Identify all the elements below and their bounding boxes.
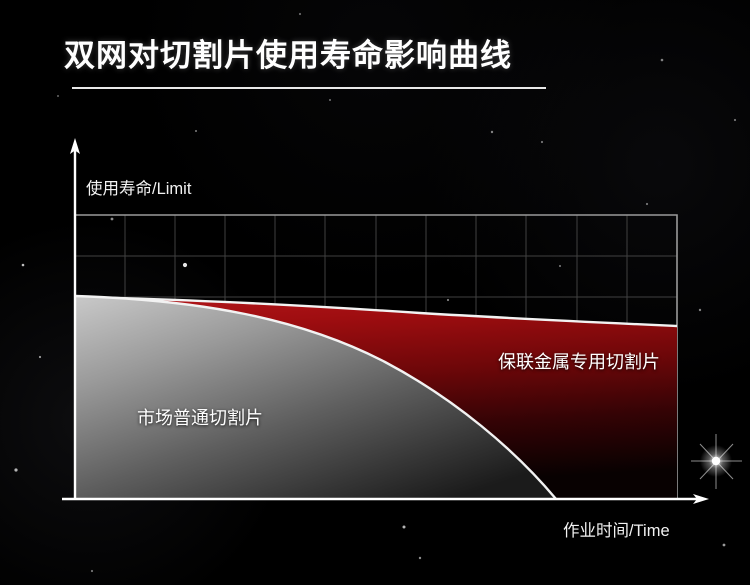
y-axis-label: 使用寿命/Limit	[86, 175, 191, 199]
x-axis-label: 作业时间/Time	[563, 517, 670, 541]
series-label-standard: 市场普通切割片	[137, 404, 263, 430]
chart-canvas: 双网对切割片使用寿命影响曲线	[0, 0, 750, 585]
lifetime-curve-chart	[0, 0, 750, 585]
series-label-premium: 保联金属专用切割片	[498, 348, 660, 374]
